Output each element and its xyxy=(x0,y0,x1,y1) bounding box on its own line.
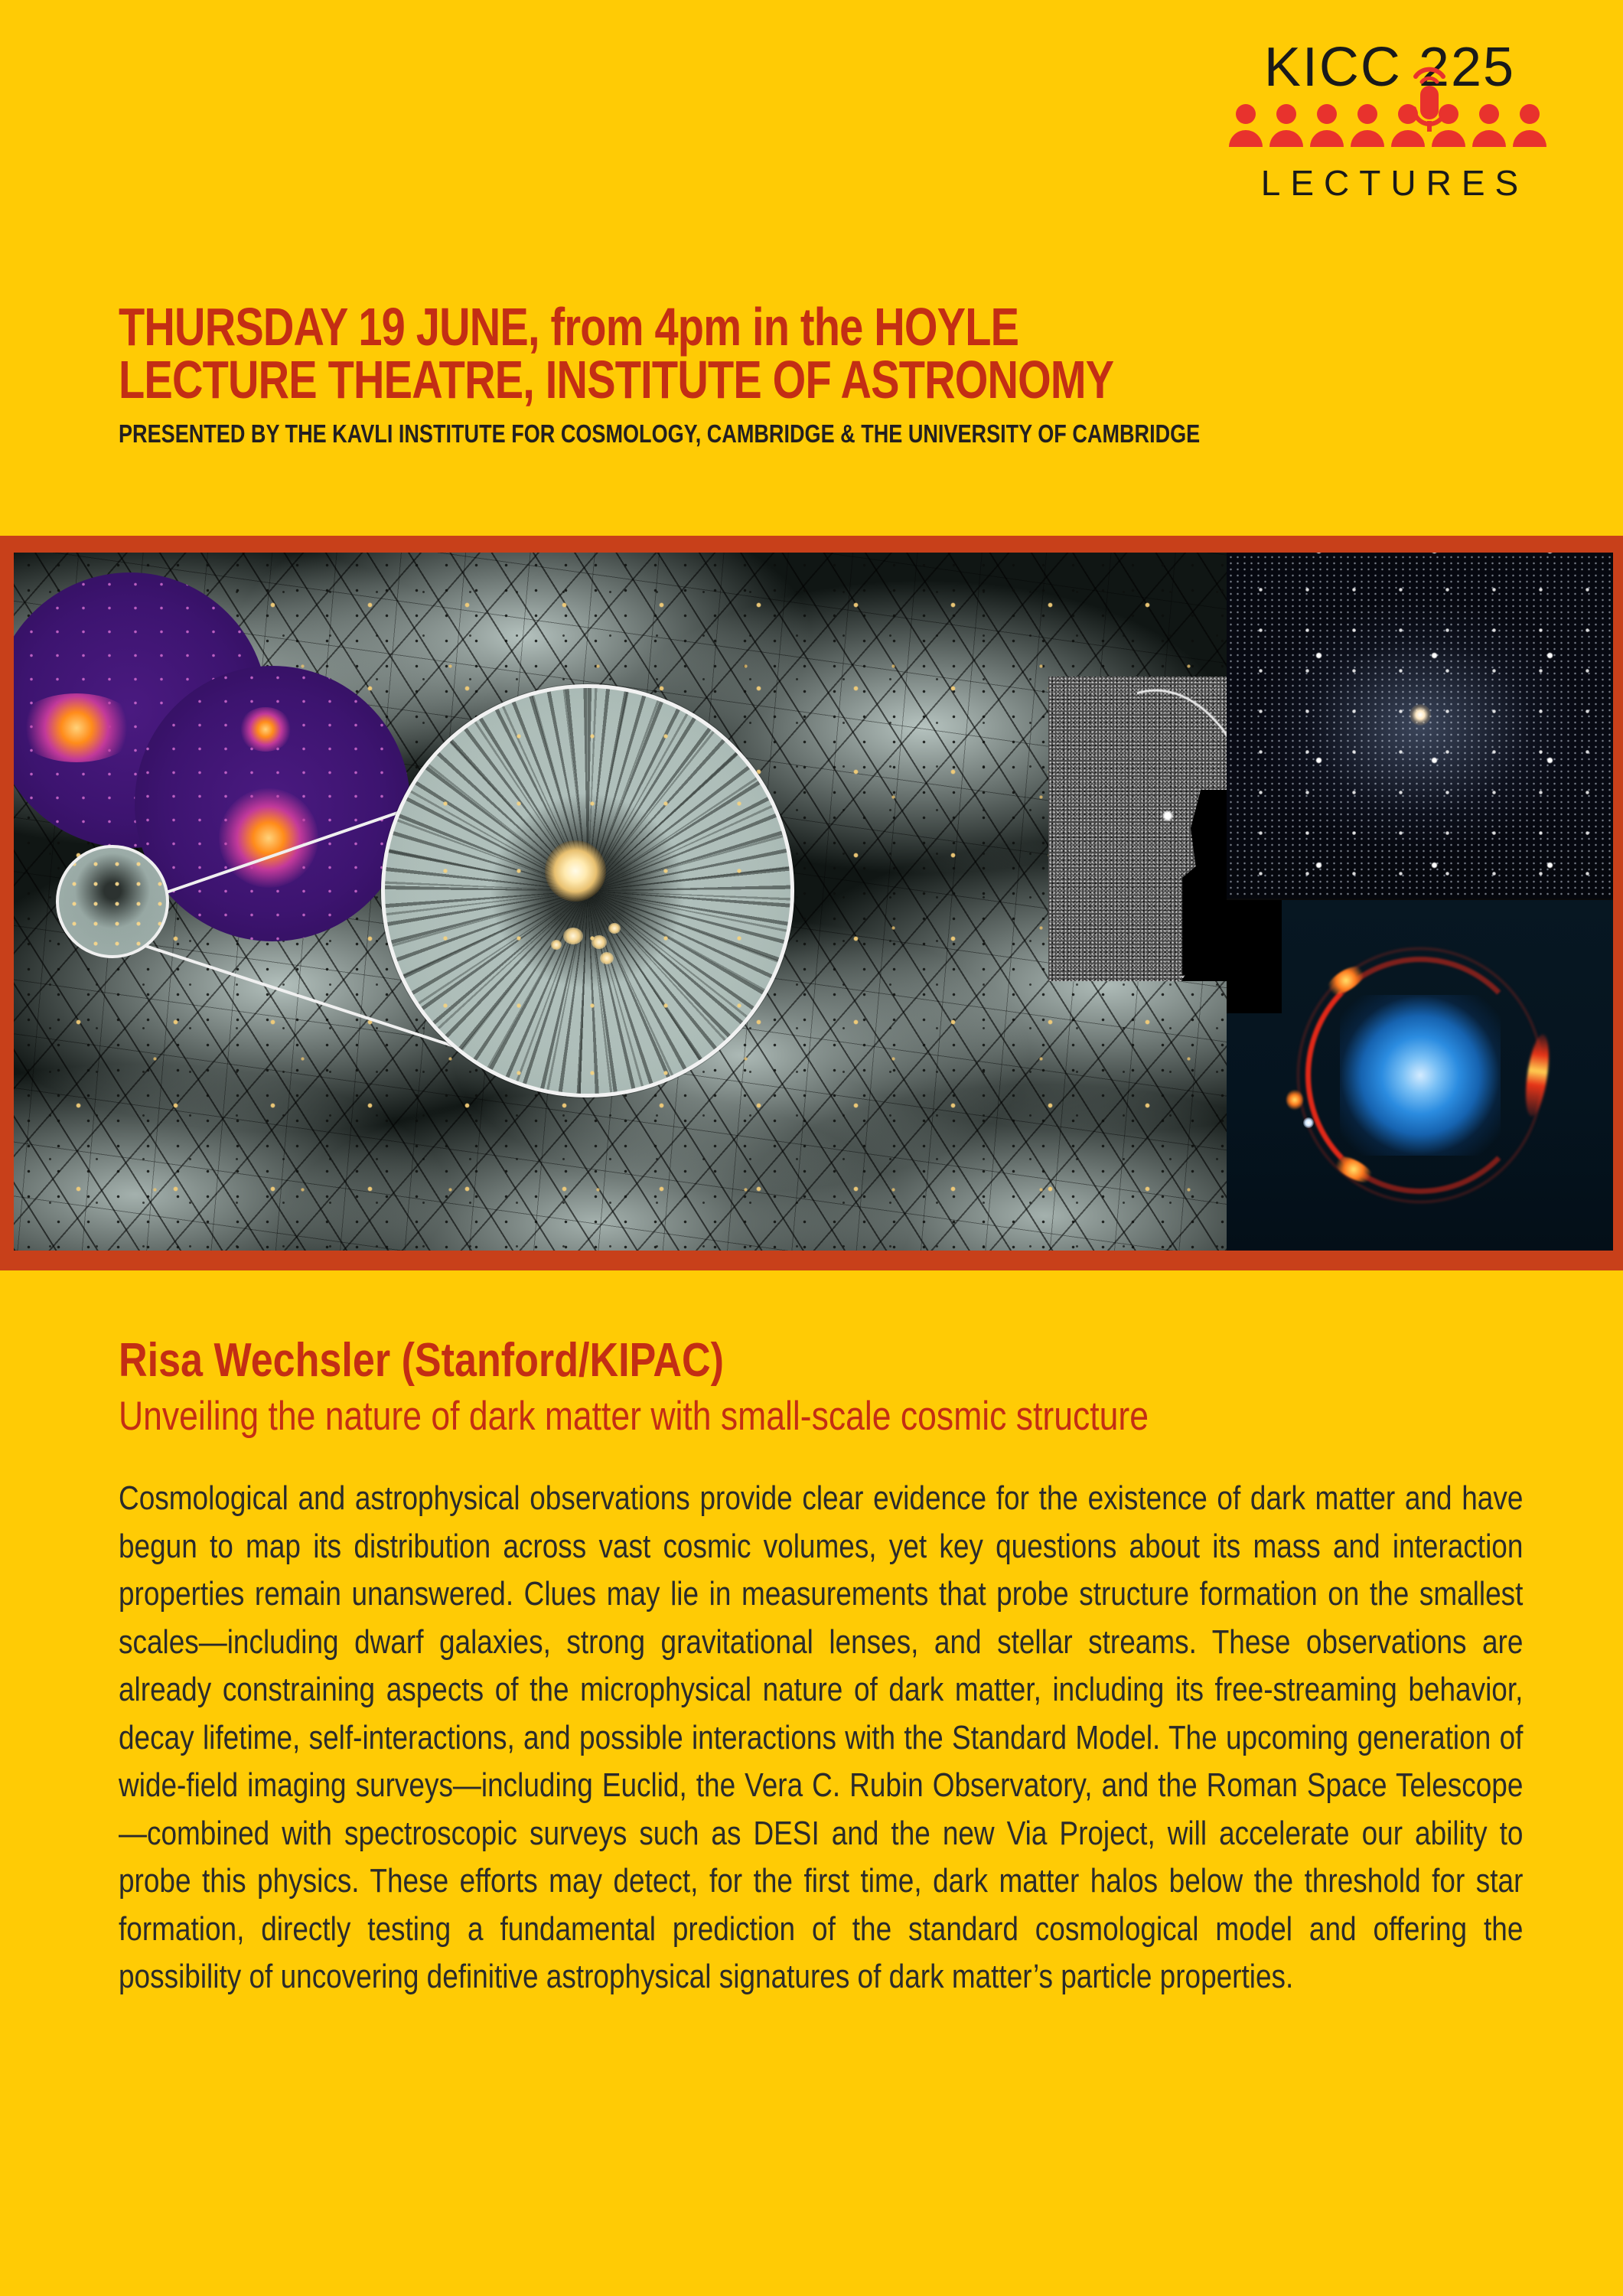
poster-image-collage xyxy=(14,553,1613,1251)
lens-arc-knot-left xyxy=(1286,1090,1303,1110)
halo-overlay-subcore xyxy=(239,707,292,752)
microphone-icon xyxy=(1408,66,1451,136)
halo-satellite xyxy=(600,952,614,964)
talk-abstract: Cosmological and astrophysical observati… xyxy=(119,1475,1523,2001)
stellar-stream-observation-image xyxy=(1048,677,1227,981)
halo-overlay-core xyxy=(219,788,318,888)
poster-header: KICC 2 25 LECTURES THURSDAY 19 xyxy=(0,0,1623,536)
speaker-name: Risa Wechsler (Stanford/KIPAC) xyxy=(119,1336,1298,1385)
cosmic-web-simulation-image xyxy=(14,553,1227,1251)
halo-bright-core xyxy=(545,840,606,902)
halo-overlay-core xyxy=(15,693,138,762)
halo-satellite xyxy=(551,940,562,950)
strong-gravitational-lens-einstein-ring-image xyxy=(1227,900,1613,1251)
kicc-lectures-logo: KICC 2 25 LECTURES xyxy=(1225,40,1554,204)
talk-details: Risa Wechsler (Stanford/KIPAC) Unveiling… xyxy=(119,1336,1523,2001)
lens-corner-mask xyxy=(1227,900,1282,1013)
halo-satellite xyxy=(563,928,583,944)
magnified-dark-matter-halo-image xyxy=(381,684,794,1097)
logo-wordmark: KICC 2 25 xyxy=(1264,40,1515,95)
lens-galaxy-core xyxy=(1340,995,1501,1156)
talk-title: Unveiling the nature of dark matter with… xyxy=(119,1394,1298,1438)
presented-by-line: PRESENTED BY THE KAVLI INSTITUTE FOR COS… xyxy=(119,419,1299,448)
halo-satellite xyxy=(608,923,621,934)
halo-source-region-image xyxy=(56,845,169,958)
stellar-stream-knot xyxy=(1163,811,1172,820)
dark-matter-halo-overlay-right xyxy=(135,666,410,941)
logo-wordmark-tail: 25 xyxy=(1451,37,1515,98)
audience-people-icon xyxy=(1225,103,1554,150)
lens-foreground-star xyxy=(1303,1117,1314,1128)
headline-line-1: THURSDAY 19 JUNE, from 4pm in the HOYLE xyxy=(119,301,1269,354)
headline-line-2: LECTURE THEATRE, INSTITUTE OF ASTRONOMY xyxy=(119,354,1269,406)
dwarf-galaxy-starfield-image xyxy=(1227,553,1613,899)
logo-lectures-label: LECTURES xyxy=(1225,162,1554,204)
event-headline: THURSDAY 19 JUNE, from 4pm in the HOYLE … xyxy=(119,301,1557,448)
source-region-subhalos xyxy=(59,848,166,955)
foreground-bright-star xyxy=(1410,704,1431,726)
